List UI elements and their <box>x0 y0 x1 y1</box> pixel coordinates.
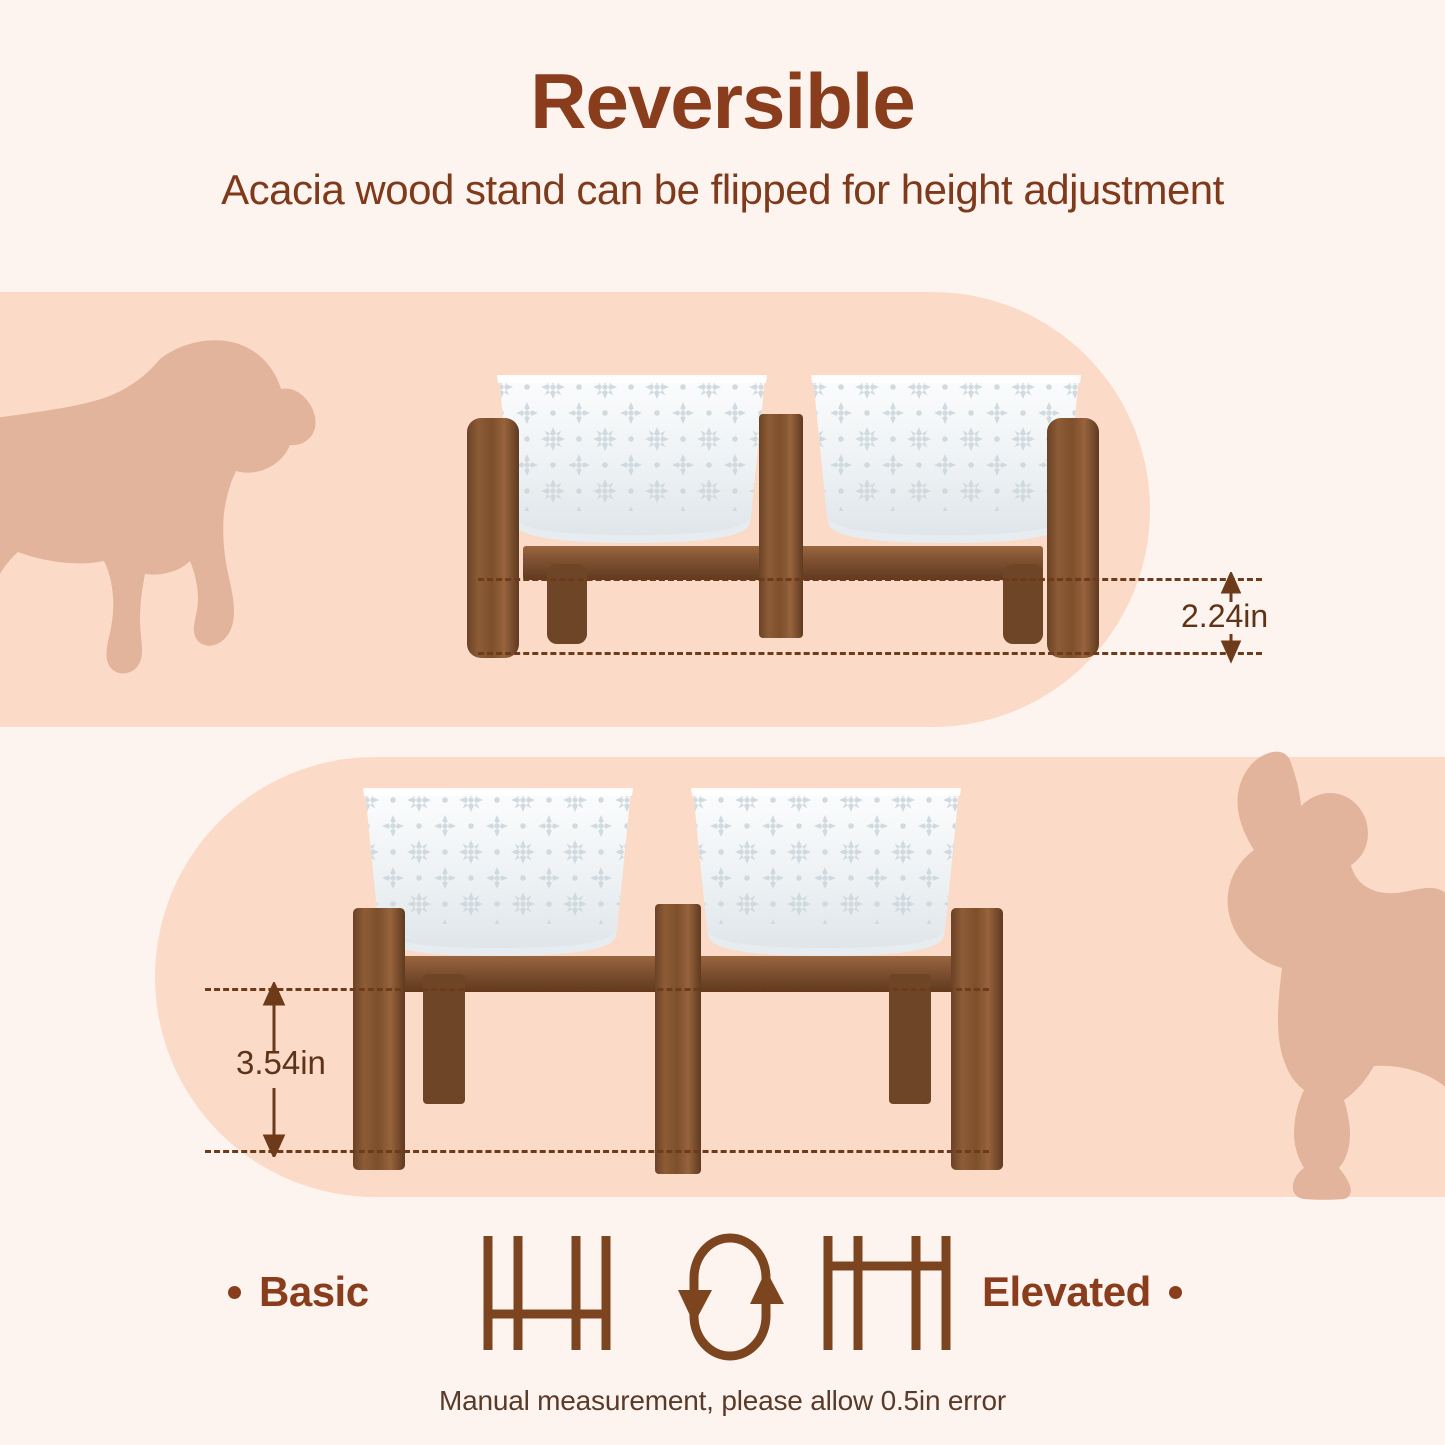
stand-center-post-elev <box>655 904 701 1174</box>
stand-leg-outer-right-elev <box>951 908 1003 1170</box>
dimension-basic: 2.24in <box>1155 572 1315 662</box>
header: Reversible Acacia wood stand can be flip… <box>0 0 1445 214</box>
page-title: Reversible <box>0 62 1445 140</box>
measure-line-top-lower <box>478 652 1262 655</box>
mode-label-elevated: Elevated <box>982 1268 1182 1316</box>
bullet-icon-basic <box>228 1286 241 1299</box>
dimension-label-basic: 2.24in <box>1181 598 1268 635</box>
stand-center-post <box>759 414 803 638</box>
page-subtitle: Acacia wood stand can be flipped for hei… <box>0 166 1445 214</box>
infographic-page: Reversible Acacia wood stand can be flip… <box>0 0 1445 1445</box>
stand-leg-rear-right <box>889 974 931 1104</box>
flip-rotate-icon <box>672 1232 788 1362</box>
disclaimer-text: Manual measurement, please allow 0.5in e… <box>0 1385 1445 1417</box>
product-elevated-stand <box>333 778 1023 1178</box>
dimension-elevated: 3.54in <box>232 982 402 1157</box>
stand-leg-rear-left <box>423 974 465 1104</box>
mode-label-basic-text: Basic <box>259 1268 369 1316</box>
stand-basic-icon <box>478 1232 616 1354</box>
dog-silhouette <box>0 333 364 683</box>
dimension-label-elevated: 3.54in <box>236 1044 326 1082</box>
bullet-icon-elevated <box>1169 1286 1182 1299</box>
mode-label-elevated-text: Elevated <box>982 1268 1151 1316</box>
bowl-left <box>487 375 787 543</box>
product-basic-stand <box>463 368 1103 668</box>
mode-label-basic: Basic <box>228 1268 369 1316</box>
bowl-right-elevated <box>681 788 981 956</box>
cat-silhouette <box>1104 750 1445 1200</box>
stand-foot-right <box>1003 564 1043 644</box>
stand-foot-left <box>547 564 587 644</box>
measure-line-top-upper <box>478 578 1262 581</box>
stand-elevated-icon <box>818 1232 956 1354</box>
stand-leg-outer-left <box>467 418 519 658</box>
stand-leg-outer-right <box>1047 418 1099 658</box>
